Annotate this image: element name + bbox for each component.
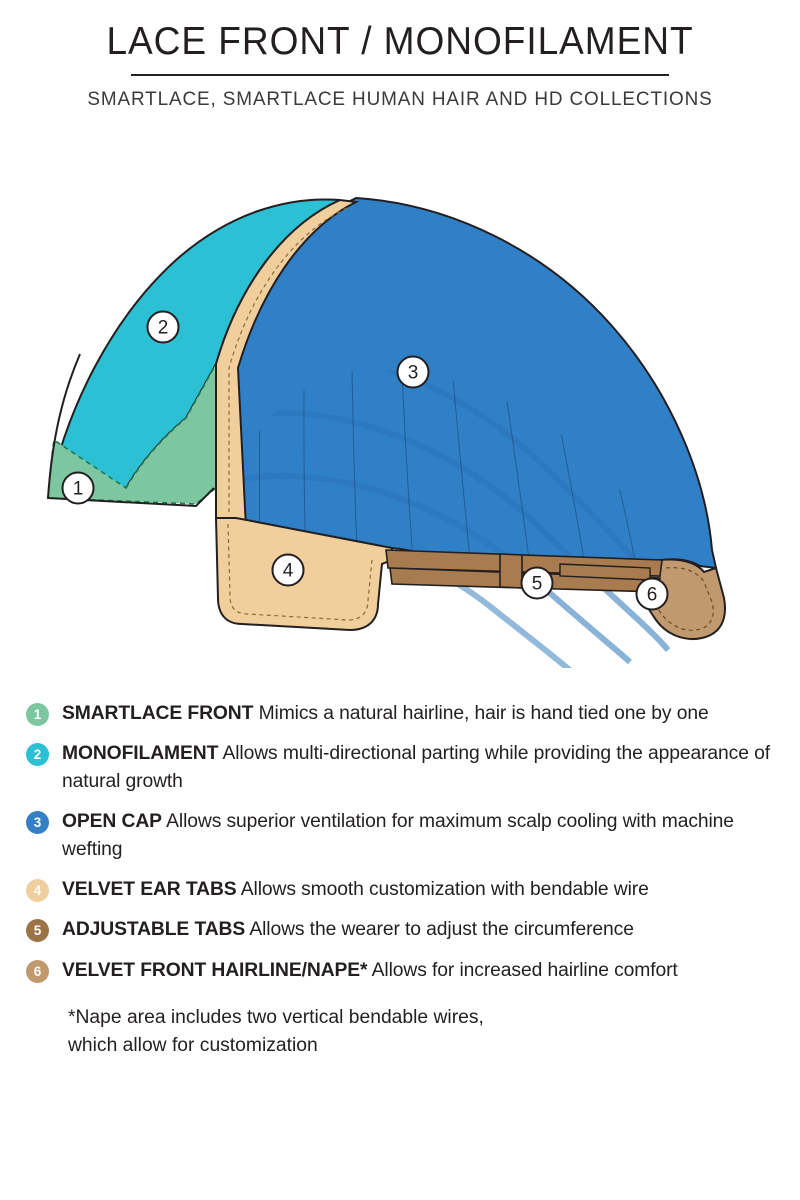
wig-cap-construction-diagram: 1 2 3 4 5 xyxy=(0,168,800,668)
legend-bullet-1: 1 xyxy=(26,703,49,726)
legend-bullet-4: 4 xyxy=(26,879,49,902)
callout-5-label: 5 xyxy=(532,574,543,595)
legend-item-open-cap: 3 OPEN CAP Allows superior ventilation f… xyxy=(0,808,800,863)
legend-desc-6: Allows for increased hairline comfort xyxy=(372,960,678,981)
legend-text-4: VELVET EAR TABS Allows smooth customizat… xyxy=(62,876,786,903)
legend-bullet-6: 6 xyxy=(26,960,49,983)
legend-desc-1: Mimics a natural hairline, hair is hand … xyxy=(259,703,709,724)
page-root: LACE FRONT / MONOFILAMENT SMARTLACE, SMA… xyxy=(0,0,800,1200)
page-header: LACE FRONT / MONOFILAMENT SMARTLACE, SMA… xyxy=(0,0,800,111)
callout-3: 3 xyxy=(398,357,429,388)
callout-2-label: 2 xyxy=(158,318,169,339)
callout-1: 1 xyxy=(63,473,94,504)
wig-cap-diagram-container: 1 2 3 4 5 xyxy=(0,168,800,668)
legend-term-1: SMARTLACE FRONT xyxy=(62,703,253,724)
legend-bullet-5: 5 xyxy=(26,919,49,942)
title-divider xyxy=(131,74,669,76)
legend-term-5: ADJUSTABLE TABS xyxy=(62,919,245,940)
callout-6-label: 6 xyxy=(647,585,658,606)
legend-text-2: MONOFILAMENT Allows multi-directional pa… xyxy=(62,740,786,795)
legend-item-monofilament: 2 MONOFILAMENT Allows multi-directional … xyxy=(0,740,800,795)
legend-text-3: OPEN CAP Allows superior ventilation for… xyxy=(62,808,786,863)
legend-item-velvet-ear-tabs: 4 VELVET EAR TABS Allows smooth customiz… xyxy=(0,876,800,903)
legend-desc-5: Allows the wearer to adjust the circumfe… xyxy=(249,919,634,940)
legend-footnote: *Nape area includes two vertical bendabl… xyxy=(0,1004,800,1060)
callout-2: 2 xyxy=(148,312,179,343)
legend-item-velvet-front-hairline-nape: 6 VELVET FRONT HAIRLINE/NAPE* Allows for… xyxy=(0,957,800,984)
legend-text-1: SMARTLACE FRONT Mimics a natural hairlin… xyxy=(62,700,786,727)
callout-1-label: 1 xyxy=(73,479,84,500)
legend-item-smartlace-front: 1 SMARTLACE FRONT Mimics a natural hairl… xyxy=(0,700,800,727)
legend-term-6: VELVET FRONT HAIRLINE/NAPE* xyxy=(62,960,367,981)
legend-term-2: MONOFILAMENT xyxy=(62,743,218,764)
legend-desc-4: Allows smooth customization with bendabl… xyxy=(241,879,649,900)
legend-text-5: ADJUSTABLE TABS Allows the wearer to adj… xyxy=(62,916,786,943)
page-subtitle: SMARTLACE, SMARTLACE HUMAN HAIR AND HD C… xyxy=(12,88,788,111)
legend-list: 1 SMARTLACE FRONT Mimics a natural hairl… xyxy=(0,700,800,1060)
legend-term-4: VELVET EAR TABS xyxy=(62,879,237,900)
legend-item-adjustable-tabs: 5 ADJUSTABLE TABS Allows the wearer to a… xyxy=(0,916,800,943)
legend-term-3: OPEN CAP xyxy=(62,811,162,832)
legend-bullet-3: 3 xyxy=(26,811,49,834)
legend-text-6: VELVET FRONT HAIRLINE/NAPE* Allows for i… xyxy=(62,957,786,984)
callout-3-label: 3 xyxy=(408,363,419,384)
callout-4: 4 xyxy=(273,555,304,586)
callout-4-label: 4 xyxy=(283,561,294,582)
callout-5: 5 xyxy=(522,568,553,599)
legend-bullet-2: 2 xyxy=(26,743,49,766)
page-title: LACE FRONT / MONOFILAMENT xyxy=(20,22,780,63)
callout-6: 6 xyxy=(637,579,668,610)
legend-desc-3: Allows superior ventilation for maximum … xyxy=(62,811,734,859)
